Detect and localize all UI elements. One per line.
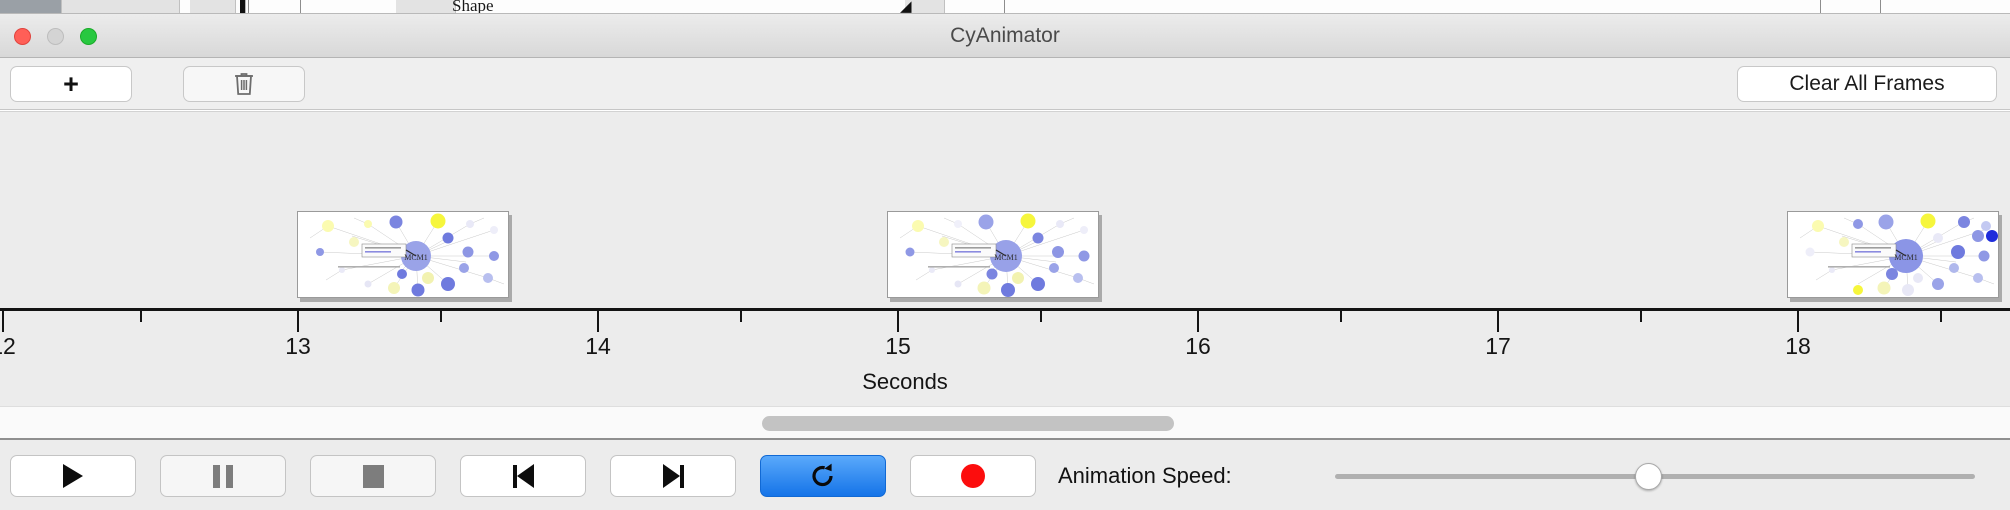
axis-tick-minor — [1940, 311, 1942, 322]
axis-tick-major — [2, 311, 4, 332]
slider-thumb[interactable] — [1635, 463, 1662, 490]
svg-text:MCM1: MCM1 — [1894, 253, 1918, 262]
zoom-icon[interactable] — [80, 28, 97, 45]
clear-all-frames-button[interactable]: Clear All Frames — [1737, 66, 1997, 102]
background-window-strip: Shape ▌ ◢ — [0, 0, 2010, 14]
axis-tick-minor — [740, 311, 742, 322]
axis-tick-minor — [440, 311, 442, 322]
loop-button[interactable] — [760, 455, 886, 497]
delete-frame-button[interactable] — [183, 66, 305, 102]
axis-tick-label: 14 — [585, 333, 611, 360]
play-icon — [63, 464, 83, 488]
bg-chip — [62, 0, 180, 14]
axis-tick-major — [297, 311, 299, 332]
bg-glyph-icon: ▌ — [240, 0, 251, 14]
toolbar: + Clear All Frames — [0, 58, 2010, 110]
frame-thumbnail-3[interactable]: MCM1 — [1787, 211, 1999, 298]
bg-divider — [1880, 0, 1881, 14]
skip-end-button[interactable] — [610, 455, 736, 497]
timeline-panel[interactable]: MCM1 — [0, 110, 2010, 406]
svg-text:MCM1: MCM1 — [404, 253, 428, 262]
plus-icon: + — [63, 71, 79, 98]
axis-tick-major — [597, 311, 599, 332]
title-bar: CyAnimator — [0, 14, 2010, 58]
axis-tick-major — [1197, 311, 1199, 332]
playback-control-bar: Animation Speed: — [0, 442, 2010, 510]
stop-button[interactable] — [310, 455, 436, 497]
skip-start-button[interactable] — [460, 455, 586, 497]
frame-thumbnail-2[interactable]: MCM1 — [887, 211, 1099, 298]
axis-tick-major — [1797, 311, 1799, 332]
network-graph-thumbnail: MCM1 — [1788, 212, 1999, 298]
axis-tick-label: 13 — [285, 333, 311, 360]
axis-tick-minor — [1040, 311, 1042, 322]
axis-tick-label: 15 — [885, 333, 911, 360]
background-tab-label: Shape — [452, 0, 494, 14]
axis-title: Seconds — [0, 369, 1910, 395]
axis-tick-label: 18 — [1785, 333, 1811, 360]
minimize-icon[interactable] — [47, 28, 64, 45]
bg-chip — [0, 0, 62, 14]
bg-divider — [1820, 0, 1821, 14]
axis-tick-major — [1497, 311, 1499, 332]
pause-button[interactable] — [160, 455, 286, 497]
bg-divider — [1004, 0, 1005, 14]
trash-icon — [233, 71, 255, 97]
axis-tick-label: 12 — [0, 333, 16, 360]
animation-speed-label: Animation Speed: — [1058, 455, 1232, 497]
axis-tick-minor — [140, 311, 142, 322]
play-button[interactable] — [10, 455, 136, 497]
svg-text:MCM1: MCM1 — [994, 253, 1018, 262]
axis-tick-minor — [1640, 311, 1642, 322]
axis-tick-label: 17 — [1485, 333, 1511, 360]
bg-chip — [396, 0, 456, 14]
skip-end-icon — [663, 464, 684, 488]
add-frame-button[interactable]: + — [10, 66, 132, 102]
bg-chip — [190, 0, 236, 14]
axis-tick-minor — [1340, 311, 1342, 322]
axis-tick-label: 16 — [1185, 333, 1211, 360]
frame-thumbnail-1[interactable]: MCM1 — [297, 211, 509, 298]
scrollbar-thumb[interactable] — [762, 416, 1174, 431]
skip-start-icon — [513, 464, 534, 488]
timeline-scrollbar[interactable] — [0, 406, 2010, 440]
loop-icon — [808, 461, 838, 491]
network-graph-thumbnail: MCM1 — [298, 212, 509, 298]
panel-divider — [0, 111, 2010, 112]
page-title: CyAnimator — [0, 14, 2010, 58]
timeline-axis — [0, 308, 2010, 311]
network-graph-thumbnail: MCM1 — [888, 212, 1099, 298]
bg-divider — [300, 0, 301, 14]
stop-icon — [363, 465, 384, 488]
cyanimator-window: Shape ▌ ◢ CyAnimator + Clear All Frames — [0, 0, 2010, 510]
record-icon — [961, 464, 985, 488]
pause-icon — [213, 465, 233, 488]
record-button[interactable] — [910, 455, 1036, 497]
animation-speed-slider[interactable] — [1335, 455, 1975, 497]
bg-glyph-icon: ◢ — [900, 0, 912, 14]
close-icon[interactable] — [14, 28, 31, 45]
axis-tick-major — [897, 311, 899, 332]
